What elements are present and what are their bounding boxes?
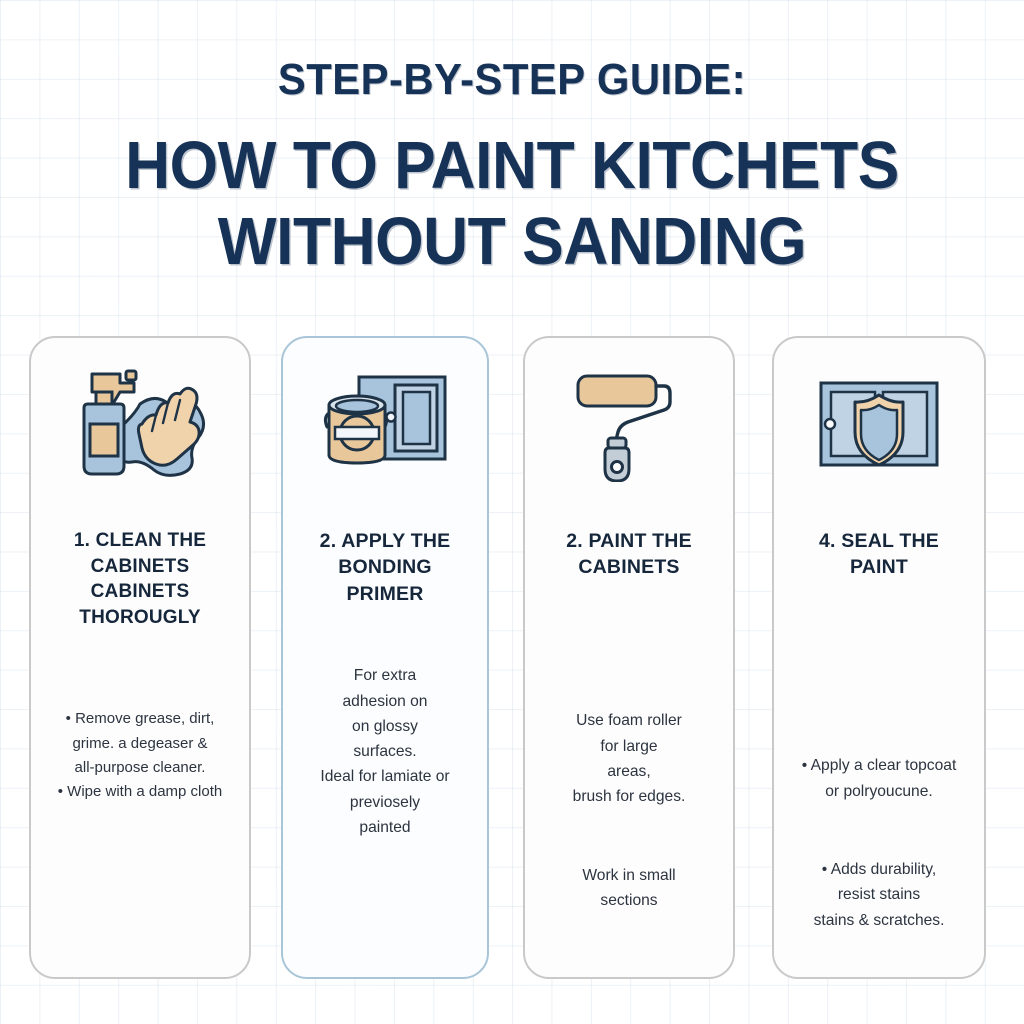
step-card-paragraph: • Remove grease, dirt, grime. a degeaser… [43, 707, 237, 804]
poster-eyebrow-title: STEP-BY-STEP GUIDE: [26, 58, 999, 102]
step-card-primer[interactable]: 2. APPLY THE BONDING PRIMER For extra ad… [281, 336, 489, 979]
poster-main-title-line-2: WITHOUT SANDING [36, 204, 988, 280]
step-card-heading: 2. PAINT THE CABINETS [525, 528, 733, 581]
step-card-seal[interactable]: 4. SEAL THE PAINT • Apply a clear topcoa… [772, 336, 986, 979]
step-card-paragraph: • Apply a clear topcoat or polryoucune. [786, 753, 972, 804]
step-card-body: For extra adhesion on on glossy surfaces… [283, 638, 487, 865]
step-card-body: • Remove grease, dirt, grime. a degeaser… [31, 683, 249, 829]
infographic-poster: STEP-BY-STEP GUIDE: HOW TO PAINT KITCHET… [0, 0, 1024, 1024]
step-card-paragraph: Use foam roller for large areas, brush f… [537, 708, 721, 809]
step-card-paragraph: Work in small sections [537, 863, 721, 914]
spray-bottle-and-cloth-icon [31, 358, 249, 488]
step-card-heading: 4. SEAL THE PAINT [774, 528, 984, 581]
poster-main-title: HOW TO PAINT KITCHETS WITHOUT SANDING [36, 128, 988, 281]
paint-can-and-cabinet-icon [283, 358, 487, 488]
step-card-body: • Apply a clear topcoat or polryoucune. … [774, 728, 984, 958]
poster-main-title-line-1: HOW TO PAINT KITCHETS [36, 128, 988, 204]
step-card-paragraph: For extra adhesion on on glossy surfaces… [295, 663, 475, 840]
step-card-body: Use foam roller for large areas, brush f… [525, 683, 733, 938]
cabinet-shield-icon [774, 358, 984, 488]
step-card-clean[interactable]: 1. CLEAN THE CABINETS CABINETS THOROUGLY… [29, 336, 251, 979]
step-card-heading: 1. CLEAN THE CABINETS CABINETS THOROUGLY [31, 528, 249, 631]
step-card-heading: 2. APPLY THE BONDING PRIMER [283, 528, 487, 607]
poster-title-block: STEP-BY-STEP GUIDE: HOW TO PAINT KITCHET… [0, 58, 1024, 281]
step-card-paragraph: • Adds durability, resist stains stains … [786, 857, 972, 933]
paint-roller-icon [525, 358, 733, 488]
step-card-paint[interactable]: 2. PAINT THE CABINETS Use foam roller fo… [523, 336, 735, 979]
